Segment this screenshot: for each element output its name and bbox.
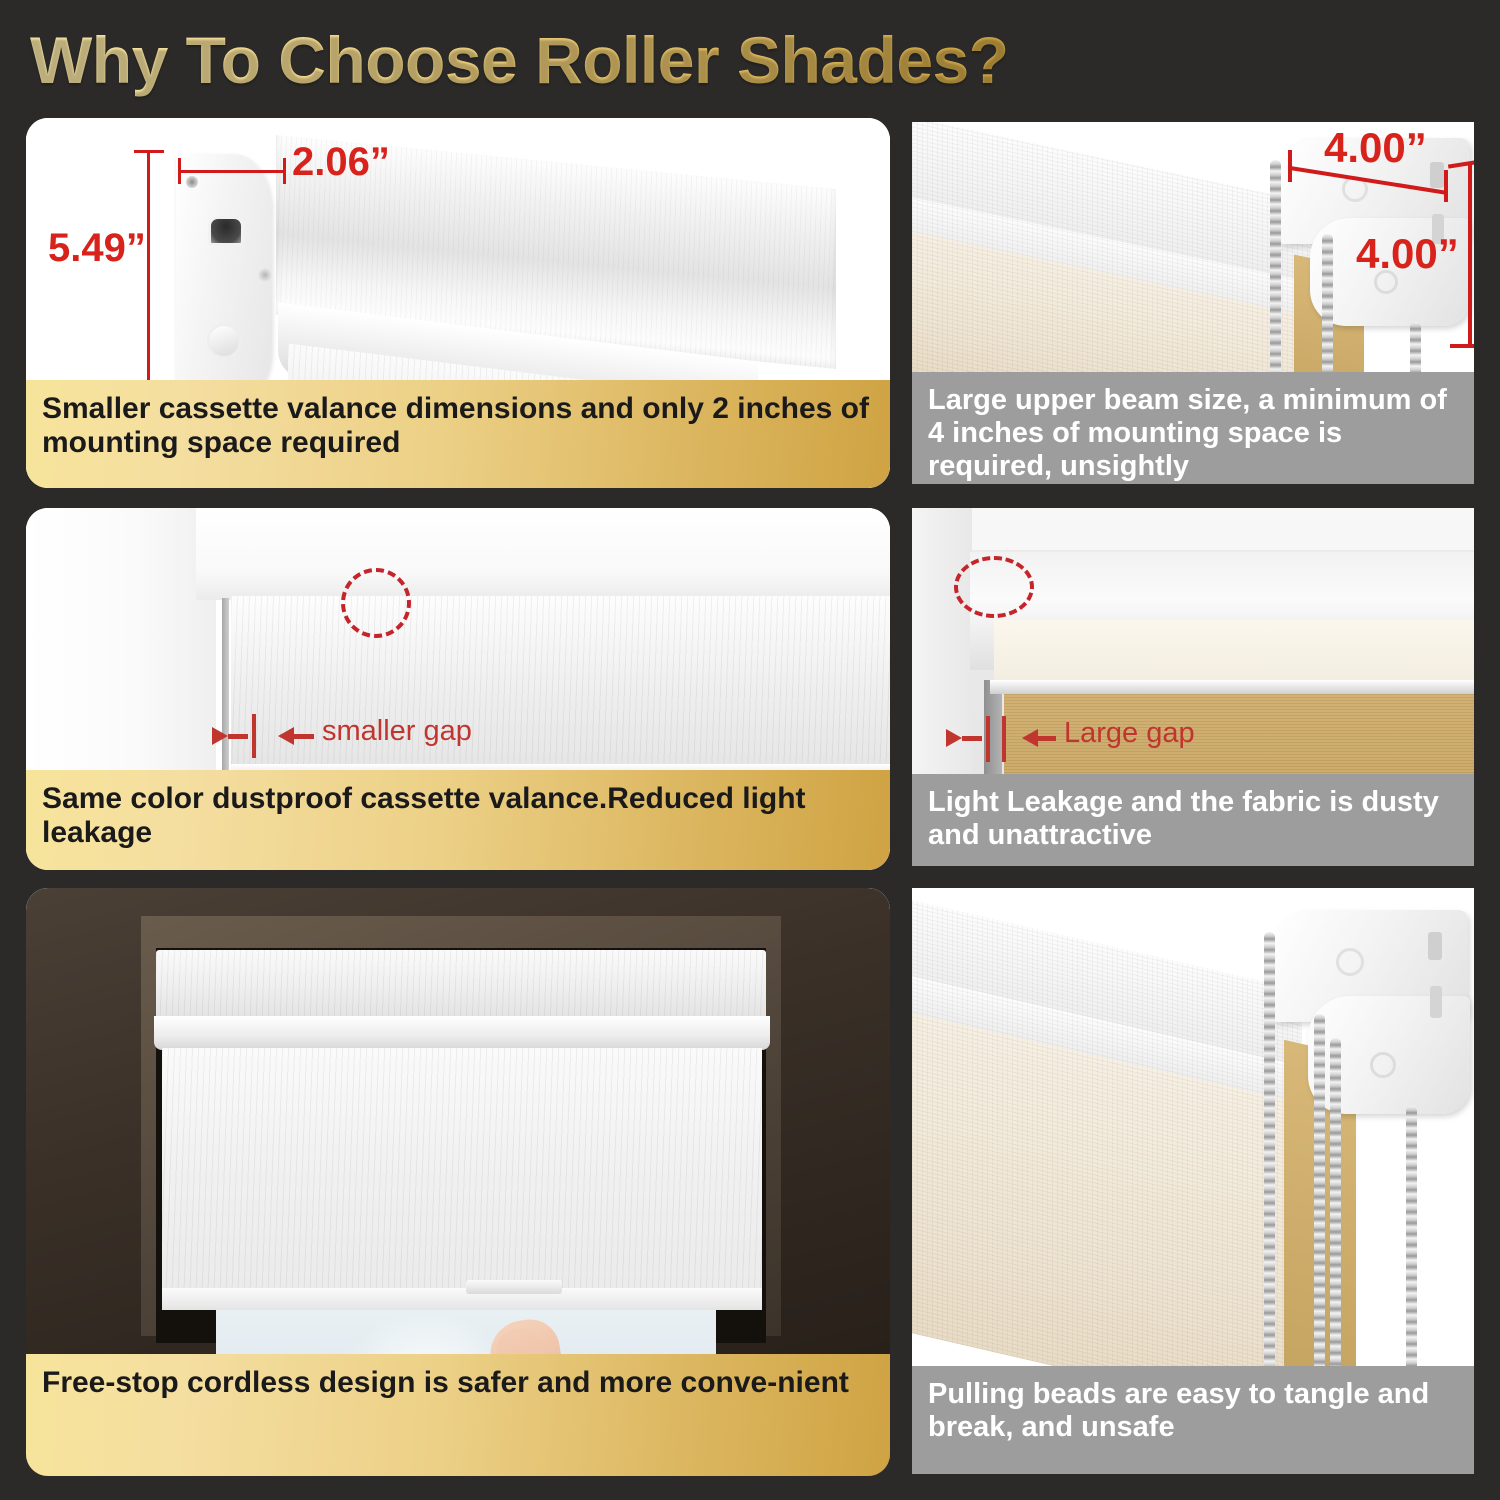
gap-arrow-left-icon bbox=[278, 727, 294, 745]
window-frame-top bbox=[196, 508, 890, 600]
panel-light-leakage: Large gap Light Leakage and the fabric i… bbox=[912, 508, 1474, 866]
height-dimension-line bbox=[147, 150, 150, 400]
height-dimension-label: 5.49” bbox=[48, 226, 146, 271]
beam-width-dimension-label: 4.00” bbox=[1324, 124, 1427, 172]
cassette-screw-top-icon bbox=[186, 176, 198, 188]
large-gap-label: Large gap bbox=[1064, 717, 1195, 750]
cordless-shade-fabric bbox=[162, 1048, 762, 1306]
gap-arrow-stem-left bbox=[228, 734, 248, 739]
gap-arrow-stem-right bbox=[1038, 736, 1056, 741]
cordless-valance bbox=[156, 950, 766, 1022]
panel-dustproof-cassette-caption: Same color dustproof cassette valance.Re… bbox=[26, 770, 890, 870]
bead-chain-mid bbox=[1314, 1014, 1325, 1380]
gap-arrow-right-icon bbox=[212, 727, 228, 745]
cordless-valance-lip bbox=[154, 1016, 770, 1050]
panel-cordless-design-caption: Free-stop cordless design is safer and m… bbox=[26, 1354, 890, 1476]
width-dimension-tick-right bbox=[283, 158, 286, 184]
beam-height-tick-bottom bbox=[1450, 344, 1474, 348]
gap-arrow-right-icon bbox=[946, 729, 962, 747]
bracket-ring-icon-2 bbox=[1370, 1052, 1396, 1078]
bracket-slot-icon bbox=[1428, 932, 1442, 960]
panel-pulling-beads-caption: Pulling beads are easy to tangle and bre… bbox=[912, 1366, 1474, 1474]
beam-width-tick-left bbox=[1288, 150, 1292, 182]
wall-top bbox=[912, 508, 1474, 550]
bracket-ring-icon bbox=[1336, 948, 1364, 976]
bead-chain-mid-2 bbox=[1330, 1038, 1341, 1380]
beam-height-dimension-label: 4.00” bbox=[1356, 230, 1459, 278]
bead-chain-right bbox=[1406, 1106, 1417, 1380]
beam-height-dimension-line bbox=[1468, 162, 1472, 348]
gap-arrow-left-icon bbox=[1022, 729, 1038, 747]
bracket-slot-icon-2 bbox=[1430, 986, 1442, 1018]
gap-marker-bar-left bbox=[986, 716, 990, 762]
bracket-slot-icon bbox=[1430, 162, 1444, 188]
cassette-end-cap bbox=[176, 154, 272, 404]
beam-width-tick-right bbox=[1444, 170, 1448, 202]
cassette-knob-icon bbox=[207, 324, 241, 358]
panel-dustproof-cassette: smaller gap Same color dustproof cassett… bbox=[26, 508, 890, 870]
panel-cordless-design: Free-stop cordless design is safer and m… bbox=[26, 888, 890, 1476]
width-dimension-line bbox=[178, 170, 286, 173]
cassette-slot-icon bbox=[208, 216, 244, 246]
bead-chain-left bbox=[1264, 932, 1275, 1380]
panel-light-leakage-caption: Light Leakage and the fabric is dusty an… bbox=[912, 774, 1474, 866]
panel-pulling-beads: Pulling beads are easy to tangle and bre… bbox=[912, 888, 1474, 1474]
cordless-bottom-rail bbox=[162, 1288, 762, 1310]
height-dimension-tick-top bbox=[134, 150, 164, 153]
gap-marker-bar-right bbox=[1002, 716, 1006, 762]
panel-smaller-cassette: 5.49” 2.06” Smaller cassette valance dim… bbox=[26, 118, 890, 488]
cordless-pull-handle[interactable] bbox=[466, 1280, 562, 1294]
panel-smaller-cassette-caption: Smaller cassette valance dimensions and … bbox=[26, 380, 890, 488]
competitor-rail bbox=[990, 680, 1474, 694]
gap-arrow-stem-right bbox=[294, 734, 314, 739]
highlight-circle bbox=[954, 556, 1034, 618]
width-dimension-tick-left bbox=[178, 158, 181, 184]
highlight-circle bbox=[341, 568, 411, 638]
gap-marker-bar bbox=[252, 714, 256, 758]
comparison-grid: 5.49” 2.06” Smaller cassette valance dim… bbox=[0, 0, 1500, 1500]
panel-large-upper-beam: 4.00” 4.00” Large upper beam size, a min… bbox=[912, 122, 1474, 484]
panel-large-upper-beam-caption: Large upper beam size, a minimum of 4 in… bbox=[912, 372, 1474, 484]
cassette-screw-icon bbox=[258, 268, 272, 282]
width-dimension-label: 2.06” bbox=[292, 140, 390, 185]
gap-arrow-stem-left bbox=[962, 736, 982, 741]
smaller-gap-label: smaller gap bbox=[322, 715, 472, 748]
